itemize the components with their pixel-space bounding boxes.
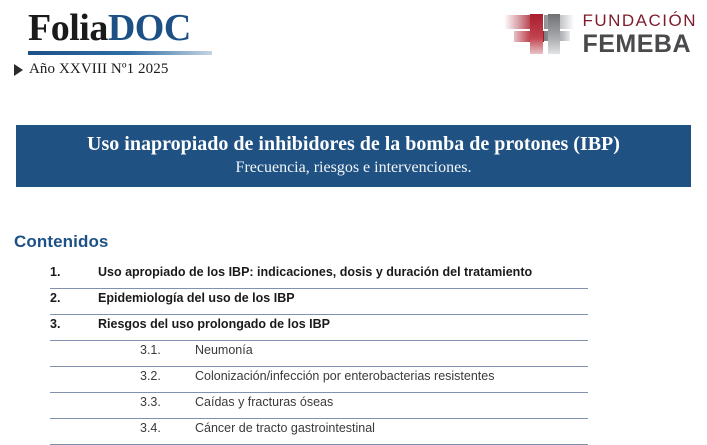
brand-name-primary: Folia — [28, 7, 108, 49]
mark-red-vertical-bar — [530, 14, 543, 54]
masthead: FoliaDOC Año XXVIII Nº1 2025 FUNDACIÓN F… — [0, 0, 707, 110]
brand-name-secondary: DOC — [108, 7, 191, 49]
femeba-cross-mark-icon — [504, 11, 576, 57]
toc-row[interactable]: 1.Uso apropiado de los IBP: indicaciones… — [50, 263, 588, 289]
toc-item-label: Neumonía — [195, 343, 253, 357]
brand-wordmark: FoliaDOC — [28, 8, 228, 48]
femeba-fundacion-label: FUNDACIÓN — [582, 12, 697, 29]
toc-item-number: 3. — [50, 317, 98, 331]
title-banner: Uso inapropiado de inhibidores de la bom… — [16, 125, 691, 187]
femeba-wordmark: FUNDACIÓN FEMEBA — [582, 12, 697, 57]
mark-gray-vertical-bar — [548, 14, 560, 54]
femeba-name-label: FEMEBA — [582, 32, 697, 57]
toc-item-label: Caídas y fracturas óseas — [195, 395, 333, 409]
toc-item-number: 3.1. — [140, 343, 195, 357]
femeba-logo: FUNDACIÓN FEMEBA — [504, 10, 697, 58]
brand-logo: FoliaDOC — [28, 8, 228, 48]
toc-item-number: 2. — [50, 291, 98, 305]
triangle-right-icon — [14, 64, 23, 76]
toc-row[interactable]: 3.3.Caídas y fracturas óseas — [50, 393, 588, 419]
toc-item-number: 3.3. — [140, 395, 195, 409]
document-subtitle: Frecuencia, riesgos e intervenciones. — [236, 158, 472, 178]
toc-item-label: Colonización/infección por enterobacteri… — [195, 369, 494, 383]
toc-item-label: Riesgos del uso prolongado de los IBP — [98, 317, 330, 331]
toc-row[interactable]: 2.Epidemiología del uso de los IBP — [50, 289, 588, 315]
toc-item-number: 3.4. — [140, 421, 195, 435]
toc-item-label: Epidemiología del uso de los IBP — [98, 291, 295, 305]
toc-row[interactable]: 3.Riesgos del uso prolongado de los IBP — [50, 315, 588, 341]
brand-underline-rule — [28, 51, 212, 55]
toc-item-label: Uso apropiado de los IBP: indicaciones, … — [98, 265, 532, 279]
toc-item-number: 1. — [50, 265, 98, 279]
toc-item-label: Cáncer de tracto gastrointestinal — [195, 421, 375, 435]
table-of-contents: 1.Uso apropiado de los IBP: indicaciones… — [50, 263, 588, 445]
contents-heading: Contenidos — [14, 232, 109, 252]
toc-item-number: 3.2. — [140, 369, 195, 383]
document-title: Uso inapropiado de inhibidores de la bom… — [87, 132, 620, 156]
toc-row[interactable]: 3.1.Neumonía — [50, 341, 588, 367]
toc-row[interactable]: 3.2.Colonización/infección por enterobac… — [50, 367, 588, 393]
toc-row[interactable]: 3.4.Cáncer de tracto gastrointestinal — [50, 419, 588, 445]
issue-label: Año XXVIII Nº1 2025 — [29, 61, 168, 78]
issue-line: Año XXVIII Nº1 2025 — [14, 61, 168, 78]
